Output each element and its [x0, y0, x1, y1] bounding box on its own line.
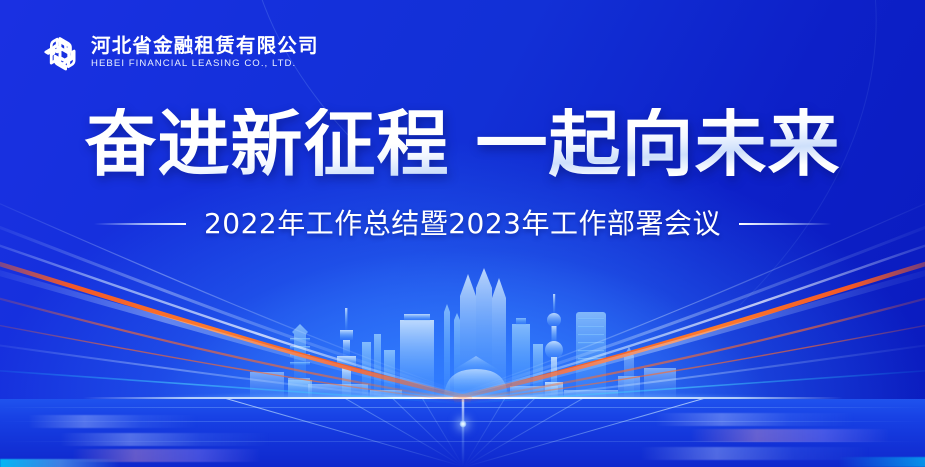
title-right: 一起向未来 — [476, 102, 841, 186]
title-left: 奋进新征程 — [84, 102, 449, 186]
brand-name-en: HEBEI FINANCIAL LEASING CO., LTD. — [91, 59, 319, 70]
hero-subtitle-row: 2022年工作总结暨2023年工作部署会议 — [0, 208, 925, 240]
brand-name-cn: 河北省金融租赁有限公司 — [91, 36, 319, 56]
page-title: 奋进新征程一起向未来 — [84, 108, 840, 180]
pinwheel-logo-icon — [40, 33, 80, 73]
hero-title-wrap: 奋进新征程一起向未来 — [0, 108, 925, 180]
hero-subtitle: 2022年工作总结暨2023年工作部署会议 — [204, 208, 721, 240]
subtitle-dash-right — [739, 223, 831, 225]
brand-text: 河北省金融租赁有限公司 HEBEI FINANCIAL LEASING CO.,… — [91, 36, 319, 69]
subtitle-dash-left — [94, 223, 186, 225]
conference-banner: 河北省金融租赁有限公司 HEBEI FINANCIAL LEASING CO.,… — [0, 0, 925, 467]
brand-logo[interactable]: 河北省金融租赁有限公司 HEBEI FINANCIAL LEASING CO.,… — [40, 33, 319, 73]
